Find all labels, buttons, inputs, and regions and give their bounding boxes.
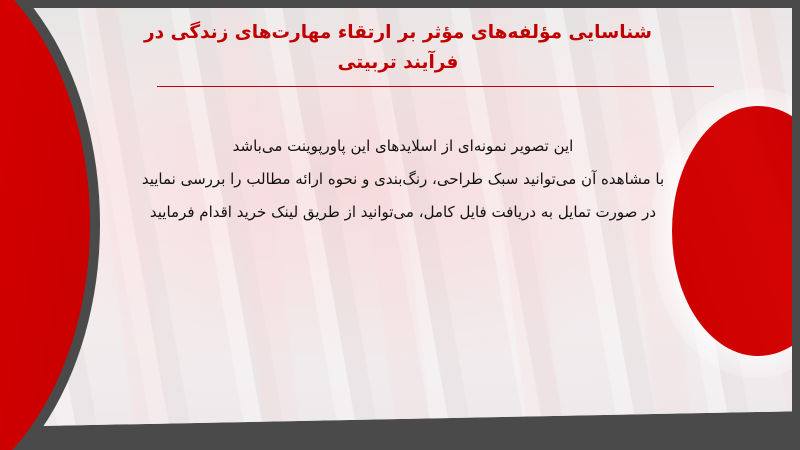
- title-line-2: فرآیند تربیتی: [114, 48, 682, 78]
- slide-title: شناسایی مؤلفه‌های مؤثر بر ارتقاء مهارت‌ه…: [24, 18, 792, 78]
- title-underline-rule: [157, 86, 714, 87]
- slide-content-panel: شناسایی مؤلفه‌های مؤثر بر ارتقاء مهارت‌ه…: [24, 8, 792, 426]
- body-line-1: این تصویر نمونه‌ای از اسلایدهای این پاور…: [134, 130, 672, 163]
- presentation-slide: شناسایی مؤلفه‌های مؤثر بر ارتقاء مهارت‌ه…: [0, 0, 800, 450]
- body-line-2: با مشاهده آن می‌توانید سبک طراحی، رنگ‌بن…: [134, 163, 672, 196]
- slide-body-text: این تصویر نمونه‌ای از اسلایدهای این پاور…: [24, 130, 792, 229]
- body-line-3: در صورت تمایل به دریافت فایل کامل، می‌تو…: [134, 196, 672, 229]
- title-line-1: شناسایی مؤلفه‌های مؤثر بر ارتقاء مهارت‌ه…: [114, 18, 682, 48]
